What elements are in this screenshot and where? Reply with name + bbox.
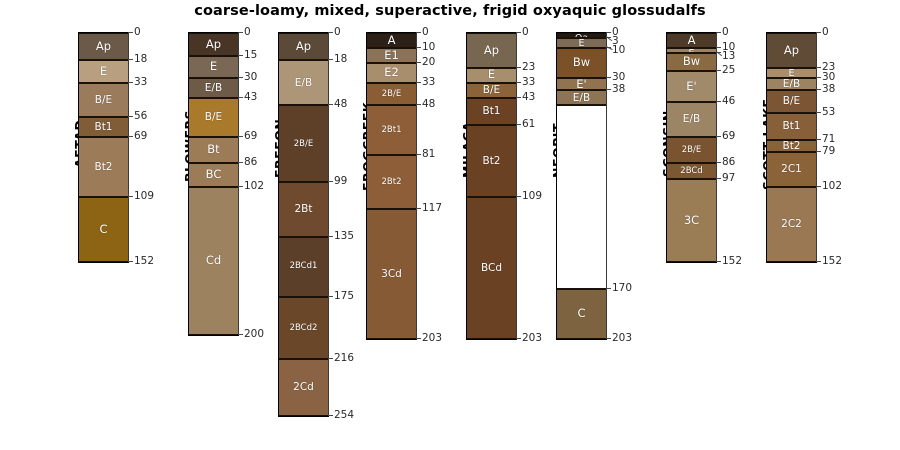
horizon-label: 3C xyxy=(667,215,716,227)
depth-tick-label: 97 xyxy=(722,173,735,183)
depth-tick-label: 10 xyxy=(422,42,435,52)
depth-tick-label: 79 xyxy=(822,146,835,156)
soil-horizon: Bt xyxy=(189,137,238,163)
soil-horizon: Bt2 xyxy=(767,140,816,152)
depth-tick-label: 254 xyxy=(334,410,354,420)
soil-horizon: Cd xyxy=(189,187,238,335)
soil-horizon: A xyxy=(367,33,416,48)
depth-tick-label: 30 xyxy=(822,72,835,82)
depth-axis xyxy=(416,32,417,338)
soil-horizon: 2B/E xyxy=(667,137,716,163)
page-title: coarse-loamy, mixed, superactive, frigid… xyxy=(0,3,900,19)
soil-horizon: Ap xyxy=(189,33,238,56)
depth-tick-label: 38 xyxy=(822,84,835,94)
depth-tick-label: 0 xyxy=(822,27,829,37)
depth-tick xyxy=(416,208,421,209)
depth-tick-label: 0 xyxy=(244,27,251,37)
depth-tick-label: 30 xyxy=(612,72,625,82)
depth-tick-label: 43 xyxy=(522,92,535,102)
soil-horizon: Ap xyxy=(467,33,516,68)
horizon-label: A xyxy=(367,35,416,47)
profile-column: ApEB/EBt1Bt2BCd xyxy=(466,32,517,340)
depth-tick xyxy=(716,70,721,71)
soil-horizon: Bt2 xyxy=(79,137,128,197)
soil-horizon: E xyxy=(189,56,238,79)
horizon-label: 2C2 xyxy=(767,219,816,230)
profile-column: ApEE/BB/EBt1Bt22C12C2 xyxy=(766,32,817,263)
soil-horizon: E/B xyxy=(279,60,328,105)
depth-tick xyxy=(238,136,243,137)
soil-horizon: 2B/E xyxy=(367,83,416,106)
soil-horizon: Ap xyxy=(767,33,816,68)
horizon-label: E/B xyxy=(189,83,238,94)
horizon-label: 2BCd2 xyxy=(279,324,328,333)
depth-tick xyxy=(128,261,133,262)
soil-horizon: Bw xyxy=(557,48,606,78)
depth-tick xyxy=(238,97,243,98)
depth-tick-label: 109 xyxy=(522,191,542,201)
depth-tick xyxy=(128,196,133,197)
profile-column: OaEBwE'E/BC xyxy=(556,32,607,340)
horizon-label: C xyxy=(79,224,128,236)
depth-tick xyxy=(328,104,333,105)
depth-tick-label: 48 xyxy=(422,99,435,109)
depth-tick xyxy=(516,196,521,197)
depth-tick xyxy=(816,151,821,152)
soil-horizon: 3C xyxy=(667,179,716,262)
horizon-label: Bw xyxy=(667,56,716,68)
depth-tick-label: 15 xyxy=(244,50,257,60)
depth-tick xyxy=(816,77,821,78)
depth-tick-label: 99 xyxy=(334,176,347,186)
soil-horizon: Ap xyxy=(79,33,128,60)
depth-tick-label: 86 xyxy=(244,157,257,167)
depth-tick xyxy=(716,32,721,33)
depth-tick-label: 203 xyxy=(522,333,542,343)
depth-tick xyxy=(606,77,611,78)
soil-horizon: E xyxy=(557,38,606,49)
horizon-label: E/B xyxy=(667,114,716,125)
horizon-label: E/B xyxy=(279,78,328,89)
depth-tick-label: 53 xyxy=(822,107,835,117)
depth-tick xyxy=(238,186,243,187)
depth-tick xyxy=(416,154,421,155)
horizon-label: Bt xyxy=(189,144,238,156)
profile-column: AEBwE'E/B2B/E2BCd3C xyxy=(666,32,717,263)
depth-tick-label: 152 xyxy=(822,256,842,266)
soil-horizon: B/E xyxy=(467,83,516,98)
soil-horizon xyxy=(557,105,606,289)
horizon-label: Ap xyxy=(767,45,816,57)
depth-tick xyxy=(238,55,243,56)
horizon-label: Cd xyxy=(189,255,238,267)
depth-tick xyxy=(816,32,821,33)
horizon-label: B/E xyxy=(767,96,816,107)
depth-tick-label: 13 xyxy=(722,51,735,61)
depth-tick xyxy=(416,32,421,33)
soil-horizon: E1 xyxy=(367,48,416,63)
depth-tick xyxy=(416,82,421,83)
horizon-label: Ap xyxy=(279,41,328,53)
depth-tick xyxy=(516,82,521,83)
horizon-label: 2Bt1 xyxy=(367,126,416,135)
soil-horizon: E xyxy=(767,68,816,79)
depth-tick xyxy=(816,261,821,262)
depth-axis xyxy=(716,32,717,261)
soil-horizon: 2BCd1 xyxy=(279,237,328,297)
depth-tick xyxy=(606,338,611,339)
depth-tick xyxy=(128,59,133,60)
depth-tick xyxy=(716,101,721,102)
depth-tick-label: 33 xyxy=(522,77,535,87)
soil-horizon: C xyxy=(557,289,606,339)
soil-horizon: 2BCd xyxy=(667,163,716,180)
soil-horizon: 3Cd xyxy=(367,209,416,339)
horizon-label: A xyxy=(667,35,716,47)
depth-tick xyxy=(328,358,333,359)
horizon-label: Ap xyxy=(79,41,128,53)
depth-tick-label: 43 xyxy=(244,92,257,102)
horizon-label: 2Bt xyxy=(279,204,328,215)
depth-tick-label: 102 xyxy=(822,181,842,191)
depth-tick-label: 203 xyxy=(422,333,442,343)
horizon-label: E' xyxy=(667,81,716,93)
depth-tick-label: 20 xyxy=(422,57,435,67)
horizon-label: Bt1 xyxy=(767,121,816,132)
horizon-label: E xyxy=(767,69,816,79)
depth-tick-label: 46 xyxy=(722,96,735,106)
depth-tick xyxy=(128,82,133,83)
horizon-label: C xyxy=(557,308,606,320)
depth-tick-label: 81 xyxy=(422,149,435,159)
soil-horizon: B/E xyxy=(79,83,128,118)
horizon-label: 2C1 xyxy=(767,164,816,175)
depth-tick xyxy=(816,67,821,68)
soil-horizon: E/B xyxy=(557,90,606,105)
depth-tick xyxy=(816,139,821,140)
depth-tick-label: 18 xyxy=(334,54,347,64)
soil-horizon: 2B/E xyxy=(279,105,328,182)
soil-horizon: 2Bt1 xyxy=(367,105,416,155)
soil-horizon: Bt2 xyxy=(467,125,516,197)
depth-tick xyxy=(606,89,611,90)
depth-tick xyxy=(516,338,521,339)
depth-tick-label: 86 xyxy=(722,157,735,167)
depth-tick-label: 61 xyxy=(522,119,535,129)
depth-tick xyxy=(238,77,243,78)
horizon-label: B/E xyxy=(79,95,128,106)
depth-tick-label: 152 xyxy=(722,256,742,266)
soil-horizon: B/E xyxy=(189,98,238,137)
soil-horizon: 2Bt2 xyxy=(367,155,416,209)
horizon-label: Ap xyxy=(467,45,516,57)
depth-tick-label: 203 xyxy=(612,333,632,343)
depth-tick xyxy=(328,181,333,182)
horizon-label: E xyxy=(557,39,606,49)
depth-tick xyxy=(416,104,421,105)
soil-horizon: B/E xyxy=(767,90,816,113)
depth-tick xyxy=(516,124,521,125)
depth-tick xyxy=(328,296,333,297)
depth-tick-label: 216 xyxy=(334,353,354,363)
depth-tick-label: 200 xyxy=(244,329,264,339)
depth-tick-label: 102 xyxy=(244,181,264,191)
soil-horizon: E2 xyxy=(367,63,416,83)
soil-horizon: Bw xyxy=(667,53,716,71)
soil-horizon: E xyxy=(79,60,128,83)
soil-horizon: Ap xyxy=(279,33,328,60)
depth-tick-label: 152 xyxy=(134,256,154,266)
profile-column: ApEE/BB/EBtBCCd xyxy=(188,32,239,336)
horizon-label: B/E xyxy=(467,85,516,96)
soil-horizon: E/B xyxy=(189,78,238,98)
depth-tick-label: 18 xyxy=(134,54,147,64)
horizon-label: Bt2 xyxy=(79,162,128,173)
profile-column: AE1E22B/E2Bt12Bt23Cd xyxy=(366,32,417,340)
depth-tick-label: 117 xyxy=(422,203,442,213)
soil-horizon: E/B xyxy=(767,78,816,90)
depth-tick xyxy=(816,186,821,187)
depth-tick xyxy=(416,338,421,339)
soil-horizon: E xyxy=(467,68,516,83)
horizon-label: 2Bt2 xyxy=(367,178,416,187)
depth-tick-label: 170 xyxy=(612,283,632,293)
horizon-label: E/B xyxy=(767,79,816,90)
horizon-label: E xyxy=(467,69,516,81)
horizon-label: Ap xyxy=(189,39,238,51)
depth-tick-label: 10 xyxy=(612,45,625,55)
profile-column: ApEB/EBt1Bt2C xyxy=(78,32,129,263)
horizon-label: Bt1 xyxy=(467,106,516,117)
depth-tick-label: 109 xyxy=(134,191,154,201)
depth-tick xyxy=(606,32,611,33)
soil-horizon: Bt1 xyxy=(767,113,816,140)
depth-tick-label: 38 xyxy=(612,84,625,94)
depth-tick xyxy=(128,32,133,33)
soil-horizon: E' xyxy=(557,78,606,90)
soil-horizon: E' xyxy=(667,71,716,103)
soil-horizon: 2C1 xyxy=(767,152,816,187)
depth-tick xyxy=(516,32,521,33)
horizon-label: Bw xyxy=(557,57,606,69)
depth-tick-label: 0 xyxy=(134,27,141,37)
horizon-label: E xyxy=(189,61,238,73)
soil-horizon: E/B xyxy=(667,102,716,137)
horizon-label: E xyxy=(79,66,128,78)
horizon-label: E/B xyxy=(557,93,606,104)
depth-tick-label: 0 xyxy=(422,27,429,37)
depth-tick xyxy=(328,59,333,60)
horizon-label: E2 xyxy=(367,67,416,79)
depth-tick xyxy=(128,116,133,117)
depth-tick-label: 71 xyxy=(822,134,835,144)
depth-tick xyxy=(716,178,721,179)
soil-horizon: C xyxy=(79,197,128,262)
depth-tick xyxy=(328,415,333,416)
depth-tick xyxy=(238,32,243,33)
depth-tick xyxy=(128,136,133,137)
depth-tick xyxy=(516,97,521,98)
depth-tick xyxy=(328,236,333,237)
horizon-label: 2BCd xyxy=(667,167,716,176)
depth-tick xyxy=(716,136,721,137)
depth-tick-label: 175 xyxy=(334,291,354,301)
horizon-label: Bt2 xyxy=(767,141,816,152)
depth-tick-label: 56 xyxy=(134,111,147,121)
horizon-label: 2B/E xyxy=(279,140,328,149)
soil-horizon: BC xyxy=(189,163,238,187)
depth-tick xyxy=(416,47,421,48)
depth-tick-label: 135 xyxy=(334,231,354,241)
soil-horizon: 2Bt xyxy=(279,182,328,236)
horizon-label: BC xyxy=(189,169,238,181)
depth-tick xyxy=(606,288,611,289)
horizon-label: 2Cd xyxy=(279,382,328,393)
horizon-label: Bt2 xyxy=(467,156,516,167)
horizon-label: Bt1 xyxy=(79,122,128,133)
soil-horizon: 2C2 xyxy=(767,187,816,262)
soil-horizon: Bt1 xyxy=(467,98,516,125)
depth-tick-label: 0 xyxy=(522,27,529,37)
depth-tick-label: 0 xyxy=(334,27,341,37)
horizon-label: E1 xyxy=(367,50,416,62)
depth-tick-label: 23 xyxy=(522,62,535,72)
horizon-label: 2BCd1 xyxy=(279,262,328,271)
soil-horizon: 2Cd xyxy=(279,359,328,416)
depth-tick-label: 23 xyxy=(822,62,835,72)
profile-column: ApE/B2B/E2Bt2BCd12BCd22Cd xyxy=(278,32,329,417)
depth-tick xyxy=(238,162,243,163)
depth-tick-label: 69 xyxy=(244,131,257,141)
depth-axis xyxy=(516,32,517,338)
depth-tick-label: 25 xyxy=(722,65,735,75)
depth-tick-label: 69 xyxy=(134,131,147,141)
soil-horizon: BCd xyxy=(467,197,516,339)
depth-tick xyxy=(328,32,333,33)
depth-tick xyxy=(416,62,421,63)
horizon-label: 2B/E xyxy=(367,90,416,99)
depth-tick-label: 33 xyxy=(134,77,147,87)
horizon-label: 2B/E xyxy=(667,146,716,155)
depth-tick xyxy=(716,261,721,262)
horizon-label: BCd xyxy=(467,263,516,274)
horizon-label: 3Cd xyxy=(367,269,416,280)
depth-tick-label: 69 xyxy=(722,131,735,141)
depth-tick xyxy=(816,112,821,113)
depth-tick-label: 0 xyxy=(722,27,729,37)
depth-tick xyxy=(716,162,721,163)
depth-tick xyxy=(516,67,521,68)
depth-tick xyxy=(816,89,821,90)
soil-horizon: Bt1 xyxy=(79,117,128,137)
depth-axis xyxy=(128,32,129,261)
depth-tick-label: 48 xyxy=(334,99,347,109)
depth-tick-label: 30 xyxy=(244,72,257,82)
horizon-label: B/E xyxy=(189,112,238,123)
depth-tick xyxy=(716,47,721,48)
horizon-label: E' xyxy=(557,79,606,90)
soil-horizon: 2BCd2 xyxy=(279,297,328,359)
soil-horizon: A xyxy=(667,33,716,48)
depth-tick xyxy=(238,334,243,335)
depth-tick-label: 33 xyxy=(422,77,435,87)
